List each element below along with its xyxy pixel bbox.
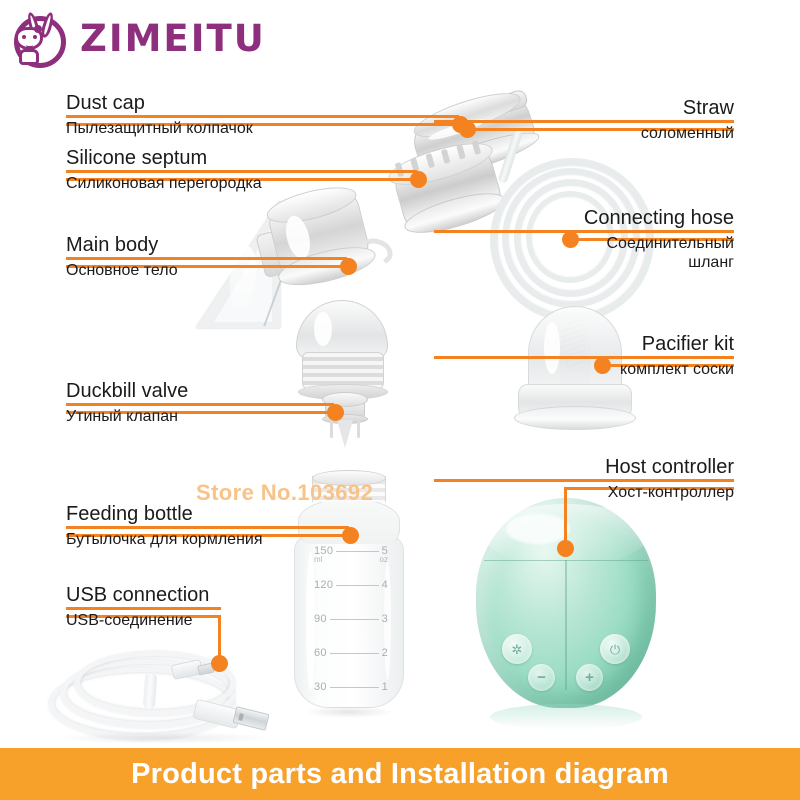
callout-rule: [434, 230, 734, 233]
callout-silicone-septum: Silicone septum Силиконовая перегородка: [66, 147, 366, 194]
scale-oz-value: 2: [382, 647, 388, 659]
callout-dust-cap-ru: Пылезащитный колпачок: [66, 120, 366, 139]
minus-button[interactable]: −: [528, 664, 555, 691]
banner-title: Product parts and Installation diagram: [131, 758, 669, 791]
callout-main-body-en: Main body: [66, 234, 366, 256]
callout-silicone-septum-ru: Силиконовая перегородка: [66, 175, 366, 194]
scale-ml-value: 60: [314, 647, 327, 659]
scale-ml-value: 30: [314, 681, 327, 693]
leader-dot-usb-connection: [211, 655, 228, 672]
callout-feeding-bottle-ru: Бутылочка для кормления: [66, 531, 366, 550]
callout-rule: [66, 257, 347, 260]
plus-button[interactable]: +: [576, 664, 603, 691]
power-button[interactable]: ⏻: [600, 634, 630, 664]
callout-pacifier-kit-en: Pacifier kit: [434, 333, 734, 355]
leader-dot-host-controller: [557, 540, 574, 557]
callout-host-controller: Host controller Хост-контроллер: [434, 456, 734, 503]
callout-rule: [66, 115, 459, 118]
callout-rule: [434, 479, 734, 482]
brand-logo: ZIMEITU: [10, 8, 266, 72]
callout-usb-connection: USB connection USB-соединение: [66, 584, 366, 631]
callout-pacifier-kit-ru: комплект соски: [434, 361, 734, 380]
callout-dust-cap: Dust cap Пылезащитный колпачок: [66, 92, 366, 139]
mode-icon: ✲: [512, 643, 523, 656]
leader-dot-silicone-septum: [410, 171, 427, 188]
callout-usb-connection-ru: USB-соединение: [66, 612, 366, 631]
scale-unit-oz: oz: [380, 555, 388, 564]
callout-rule: [434, 356, 734, 359]
callout-connecting-hose: Connecting hose Соединительный шланг: [434, 207, 734, 273]
callout-feeding-bottle-en: Feeding bottle: [66, 503, 366, 525]
callout-straw: Straw соломенный: [434, 97, 734, 144]
callout-rule: [66, 403, 334, 406]
mode-button[interactable]: ✲: [502, 634, 532, 664]
power-icon: ⏻: [610, 643, 620, 656]
minus-icon: −: [537, 670, 546, 685]
callout-connecting-hose-ru: Соединительный: [434, 235, 734, 254]
product-diagram-canvas: ZIMEITU: [0, 0, 800, 800]
callout-connecting-hose-ru2: шланг: [434, 254, 734, 273]
callout-pacifier-kit: Pacifier kit комплект соски: [434, 333, 734, 380]
rabbit-mascot-icon: [10, 8, 74, 72]
callout-straw-en: Straw: [434, 97, 734, 119]
callout-feeding-bottle: Feeding bottle Бутылочка для кормления: [66, 503, 366, 550]
scale-oz-value: 1: [382, 681, 388, 693]
callout-duckbill-valve-en: Duckbill valve: [66, 380, 366, 402]
callout-host-controller-ru: Хост-контроллер: [434, 484, 734, 503]
scale-oz-value: 4: [382, 579, 388, 591]
callout-usb-connection-en: USB connection: [66, 584, 366, 606]
scale-unit-ml: ml: [314, 555, 322, 564]
callout-straw-ru: соломенный: [434, 125, 734, 144]
callout-connecting-hose-en: Connecting hose: [434, 207, 734, 229]
callout-duckbill-valve-ru: Утиный клапан: [66, 408, 366, 427]
callout-rule: [66, 607, 221, 610]
callout-rule: [66, 170, 417, 173]
callout-main-body: Main body Основное тело: [66, 234, 366, 281]
callout-main-body-ru: Основное тело: [66, 262, 366, 281]
usb-cable-part: [48, 640, 298, 750]
bulb-highlight: [314, 312, 332, 346]
brand-name: ZIMEITU: [80, 20, 266, 61]
bottom-banner: Product parts and Installation diagram: [0, 748, 800, 800]
plus-icon: +: [585, 670, 594, 685]
callout-duckbill-valve: Duckbill valve Утиный клапан: [66, 380, 366, 427]
callout-rule: [434, 120, 734, 123]
callout-host-controller-en: Host controller: [434, 456, 734, 478]
scale-oz-value: 3: [382, 613, 388, 625]
callout-dust-cap-en: Dust cap: [66, 92, 366, 114]
callout-silicone-septum-en: Silicone septum: [66, 147, 366, 169]
callout-rule: [66, 526, 349, 529]
